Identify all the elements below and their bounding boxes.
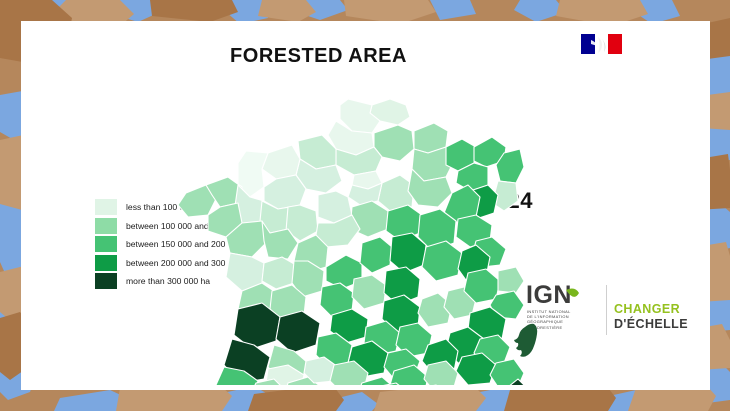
dept-saone-et-loire xyxy=(422,241,462,281)
dept-haute-savoie xyxy=(498,267,524,293)
poster-card: FORESTED AREA 2024 less than 100 000 ha … xyxy=(21,21,710,390)
dept-deux-sevres xyxy=(262,257,296,289)
dept-creuse xyxy=(352,275,386,309)
dept-calvados xyxy=(262,145,300,179)
corsica-silhouette-icon xyxy=(512,320,548,370)
logo-divider xyxy=(606,285,607,335)
dept-dordogne xyxy=(276,311,320,353)
dept-orne xyxy=(264,175,306,209)
france-departments-choropleth xyxy=(176,65,526,385)
slogan-line-2: D'ÉCHELLE xyxy=(614,317,688,331)
slogan: CHANGER D'ÉCHELLE xyxy=(614,302,688,331)
legend-swatch xyxy=(95,199,117,215)
dept-cher xyxy=(360,237,392,273)
legend-swatch xyxy=(95,273,117,289)
svg-text:IGN: IGN xyxy=(526,282,572,308)
french-republic-marianne-logo xyxy=(567,26,635,60)
legend-swatch xyxy=(95,255,117,271)
legend-swatch xyxy=(95,218,117,234)
ign-wordmark: IGN xyxy=(526,282,614,308)
slogan-line-1: CHANGER xyxy=(614,302,688,316)
ign-logo-block: IGN INSTITUT NATIONAL DE L'INFORMATION G… xyxy=(526,282,686,350)
legend-swatch xyxy=(95,236,117,252)
